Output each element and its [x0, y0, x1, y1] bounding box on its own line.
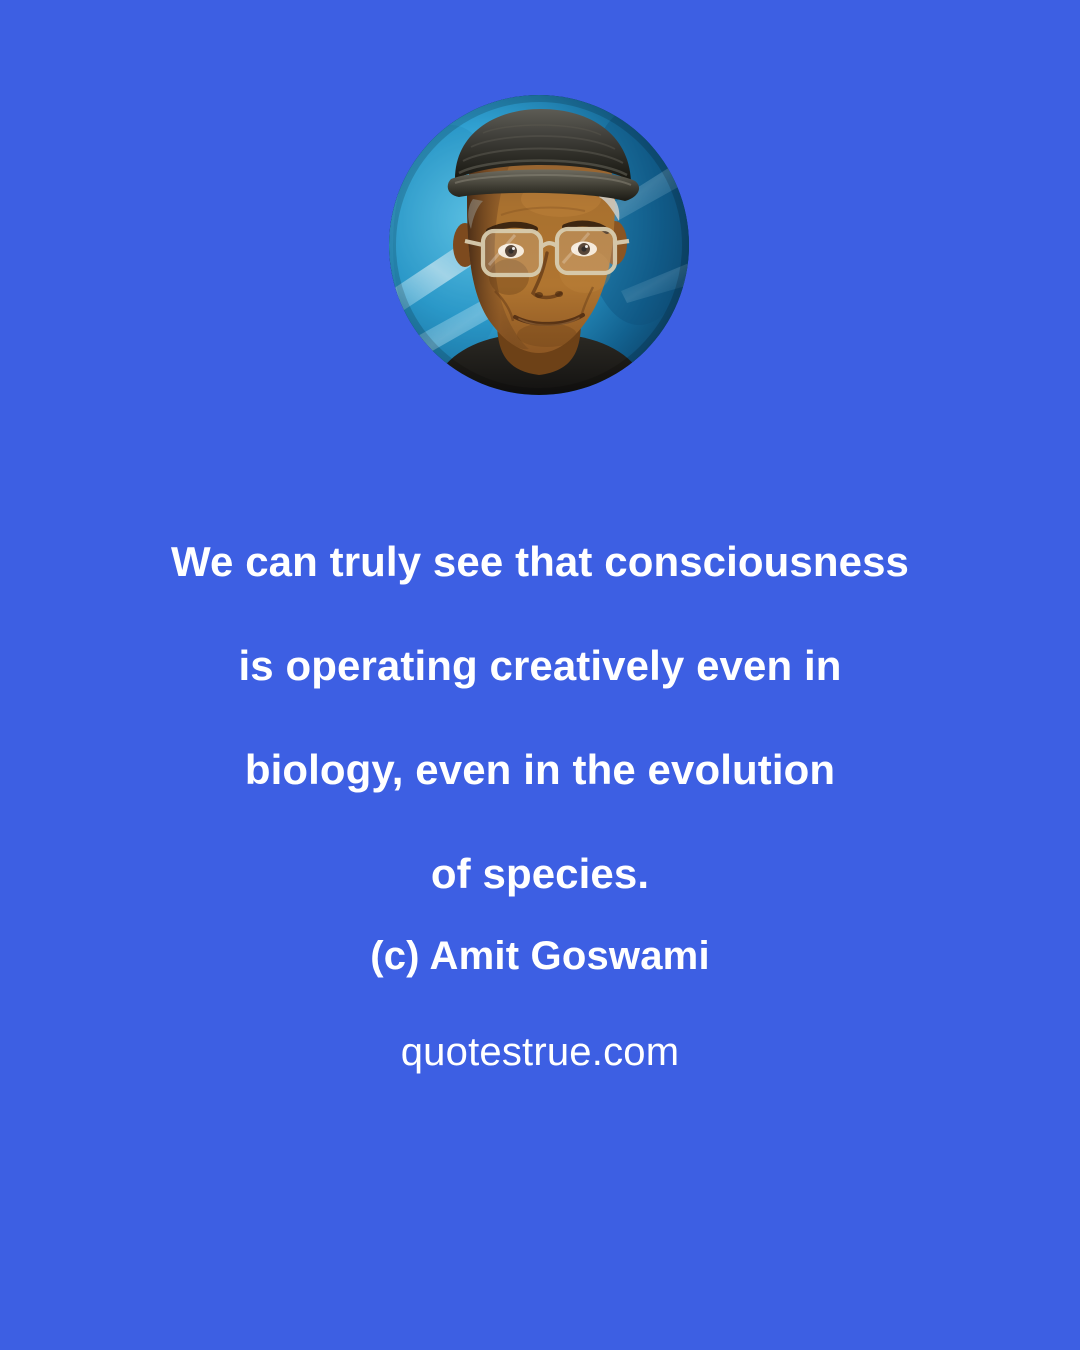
quote-text: We can truly see that consciousness is o…: [0, 510, 1080, 926]
quote-line: biology, even in the evolution: [90, 718, 990, 822]
quote-card: We can truly see that consciousness is o…: [0, 0, 1080, 1350]
quote-author: (c) Amit Goswami: [0, 930, 1080, 982]
source-website: quotestrue.com: [0, 1026, 1080, 1078]
quote-line: We can truly see that consciousness: [90, 510, 990, 614]
portrait-photo-icon: [389, 95, 689, 395]
quote-line: is operating creatively even in: [90, 614, 990, 718]
quote-line: of species.: [90, 822, 990, 926]
avatar: [389, 95, 689, 395]
